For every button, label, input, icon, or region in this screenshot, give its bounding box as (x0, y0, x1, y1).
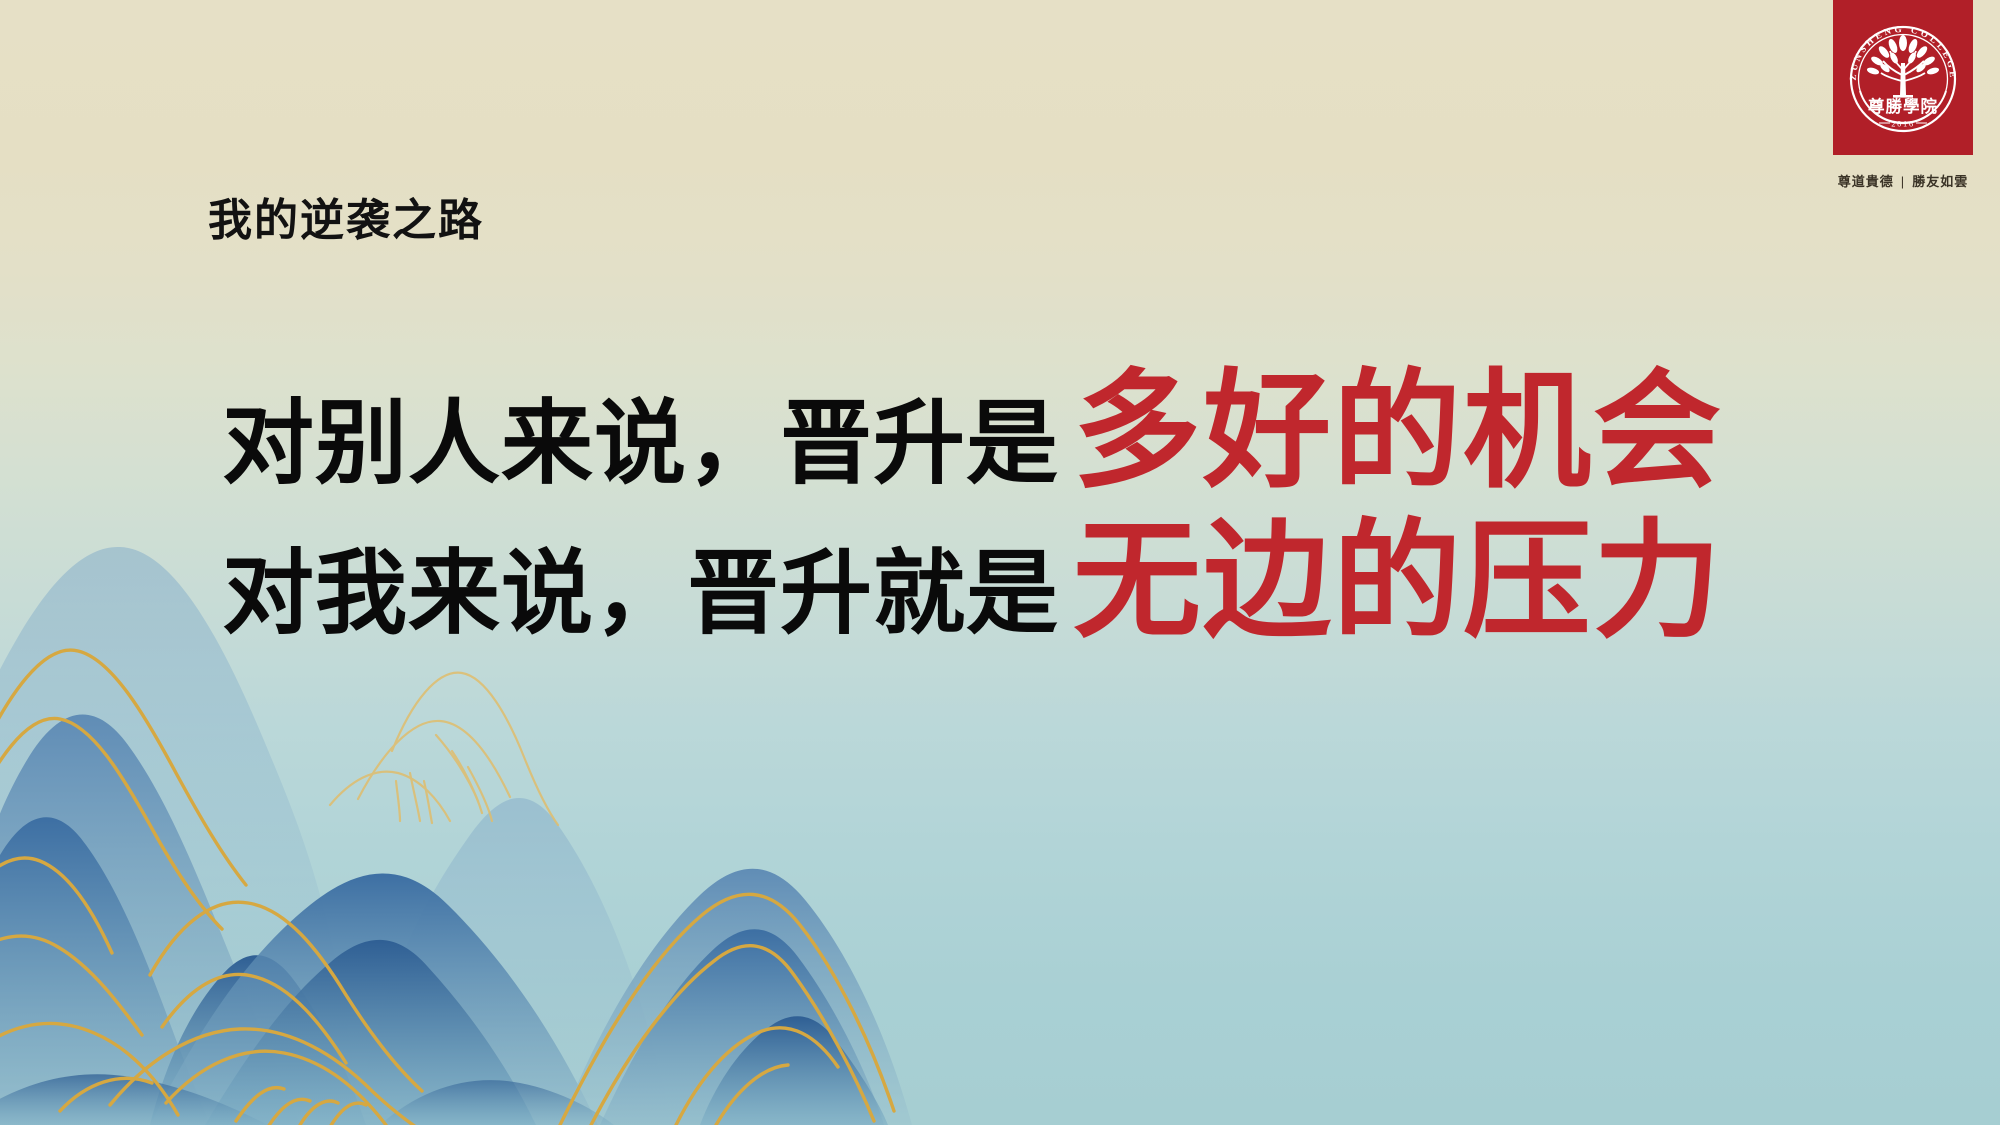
statement-line-1: 对别人来说，晋升是多好的机会 (222, 368, 1842, 496)
brand-logo-block: ZUNSHENG COLLEGE (1833, 0, 1973, 190)
statement-line-2: 对我来说，晋升就是无边的压力 (222, 518, 1842, 646)
mountain-left-front (150, 955, 366, 1125)
mountain-right-front (700, 1016, 888, 1125)
mountain-center-main (150, 873, 598, 1125)
svg-text:2016: 2016 (1891, 118, 1914, 128)
statement-1-red-text: 多好的机会 (1073, 360, 1723, 503)
statement-2-red-text: 无边的压力 (1073, 510, 1723, 653)
gold-sketch-peak (330, 673, 558, 825)
presentation-slide: 我的逆袭之路 对别人来说，晋升是多好的机会 对我来说，晋升就是无边的压力 ZUN… (0, 0, 2000, 1125)
mountain-left-secondary (0, 817, 210, 1125)
statement-2-black-text: 对我来说，晋升就是 (222, 543, 1059, 645)
mountain-foothill-center (380, 1080, 614, 1125)
mountain-center-core (205, 940, 536, 1125)
statement-1-black-text: 对别人来说，晋升是 (222, 393, 1059, 495)
page-title: 我的逆袭之路 (208, 184, 484, 248)
tree-icon (1866, 35, 1940, 98)
mountain-far-center (355, 798, 672, 1125)
statement-block: 对别人来说，晋升是多好的机会 对我来说，晋升就是无边的压力 (222, 368, 1842, 668)
mountain-right-main (560, 869, 912, 1125)
mountain-right-core (600, 929, 884, 1125)
zunsheng-college-emblem-icon: ZUNSHENG COLLEGE (1838, 13, 1968, 143)
mountain-foothill-left (0, 1074, 268, 1125)
logo-tagline: 尊道貴德|勝友如雲 (1833, 171, 1973, 190)
svg-text:尊勝學院: 尊勝學院 (1868, 96, 1938, 116)
logo-tagline-right: 勝友如雲 (1912, 174, 1968, 189)
logo-tagline-separator: | (1901, 174, 1905, 189)
logo-tagline-left: 尊道貴德 (1838, 174, 1894, 189)
logo-red-box: ZUNSHENG COLLEGE (1833, 0, 1973, 155)
mountain-left-main (0, 715, 300, 1125)
gold-contour-lines (0, 650, 894, 1125)
